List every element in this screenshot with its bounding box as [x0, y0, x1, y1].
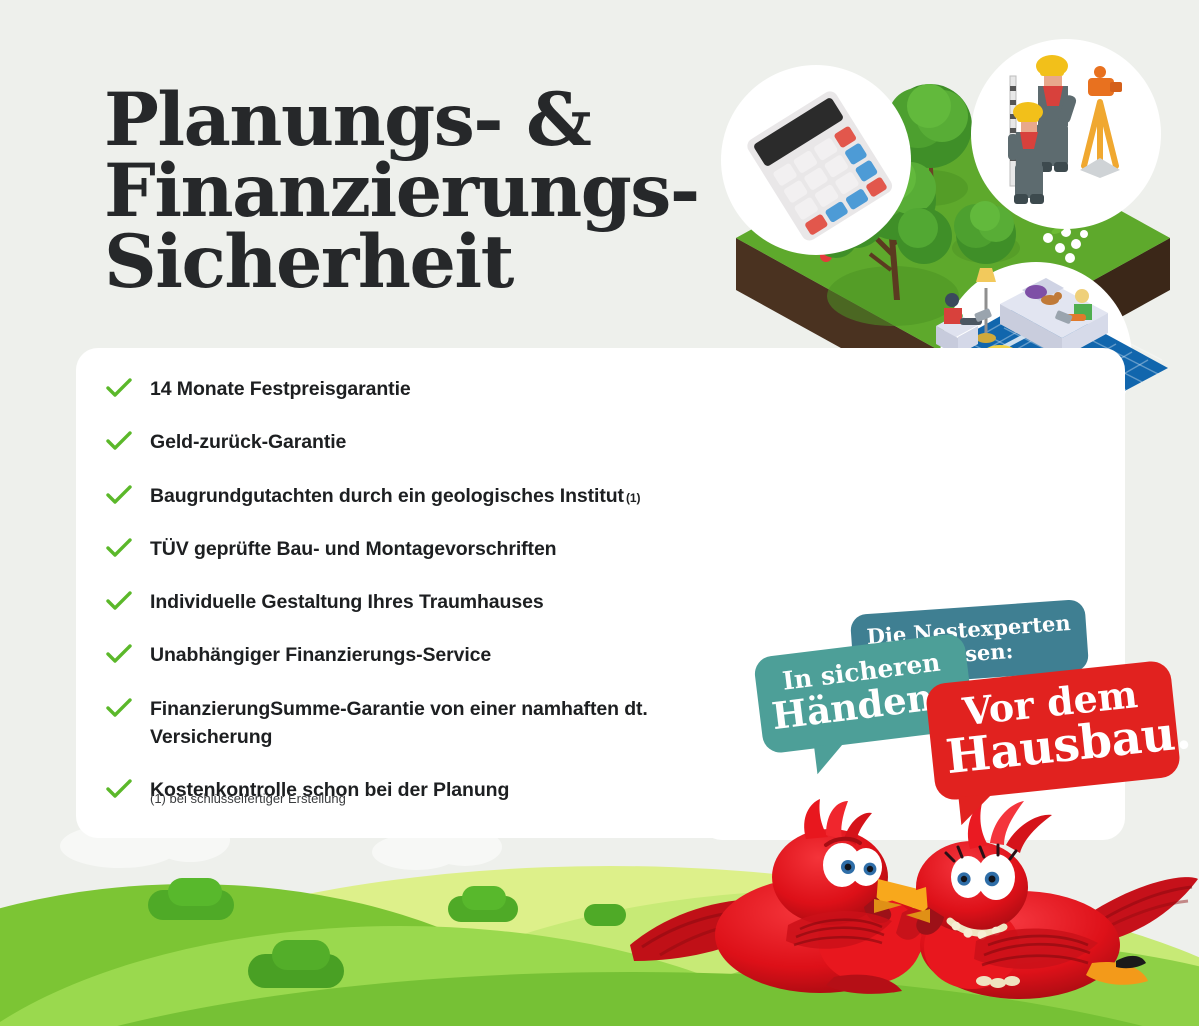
list-item-label: 14 Monate Festpreisgarantie — [150, 375, 411, 403]
bubble-tail — [814, 743, 847, 774]
bush-icon — [168, 878, 222, 906]
feature-checklist: 14 Monate Festpreisgarantie Geld-zurück-… — [106, 375, 736, 829]
checkmark-icon — [106, 484, 132, 506]
mascot-birds — [620, 795, 1199, 1026]
checkmark-icon — [106, 643, 132, 665]
list-item: FinanzierungSumme-Garantie von einer nam… — [106, 695, 666, 752]
bubble-tail — [958, 793, 995, 824]
headline-line-2: Finanzierungs- — [104, 156, 744, 227]
hill-layer — [0, 884, 640, 1026]
checkmark-icon — [106, 430, 132, 452]
list-item-label: Unabhängiger Finanzierungs-Service — [150, 641, 491, 669]
list-item: Baugrundgutachten durch ein geologisches… — [106, 482, 736, 510]
list-item-label: Baugrundgutachten durch ein geologisches… — [150, 482, 640, 510]
checkmark-icon — [106, 537, 132, 559]
list-item-label: FinanzierungSumme-Garantie von einer nam… — [150, 695, 666, 752]
checkmark-icon — [106, 778, 132, 800]
list-item-label: Geld-zurück-Garantie — [150, 428, 346, 456]
bird-left — [630, 799, 928, 994]
list-item: 14 Monate Festpreisgarantie — [106, 375, 736, 403]
footnote-marker: (1) — [626, 491, 640, 505]
list-item: Individuelle Gestaltung Ihres Traumhause… — [106, 588, 736, 616]
checkmark-icon — [106, 590, 132, 612]
headline-line-3: Sicherheit — [104, 227, 744, 298]
list-item-label: TÜV geprüfte Bau- und Montagevorschrifte… — [150, 535, 557, 563]
bush-icon — [272, 940, 330, 970]
surveyor-inset — [971, 39, 1161, 229]
bush-icon — [248, 954, 344, 988]
cloud-icon — [372, 834, 460, 870]
bush-icon — [148, 890, 234, 920]
infographic-canvas: Planungs- & Finanzierungs- Sicherheit 14… — [0, 0, 1199, 1026]
list-item: TÜV geprüfte Bau- und Montagevorschrifte… — [106, 535, 736, 563]
checkmark-icon — [106, 377, 132, 399]
footnote-text: (1) bei schlüsselfertiger Erstellung — [150, 791, 346, 806]
speech-bubble-vor-dem-hausbau: Vor dem Hausbau. — [925, 659, 1182, 801]
list-item: Unabhängiger Finanzierungs-Service — [106, 641, 736, 669]
headline-line-1: Planungs- & — [104, 85, 744, 156]
page-title: Planungs- & Finanzierungs- Sicherheit — [104, 85, 744, 297]
bush-icon — [462, 886, 506, 910]
bird-right — [888, 801, 1198, 999]
list-item-label: Individuelle Gestaltung Ihres Traumhause… — [150, 588, 544, 616]
bush-icon — [448, 896, 518, 922]
list-item: Geld-zurück-Garantie — [106, 428, 736, 456]
checkmark-icon — [106, 697, 132, 719]
calculator-inset — [721, 65, 911, 255]
